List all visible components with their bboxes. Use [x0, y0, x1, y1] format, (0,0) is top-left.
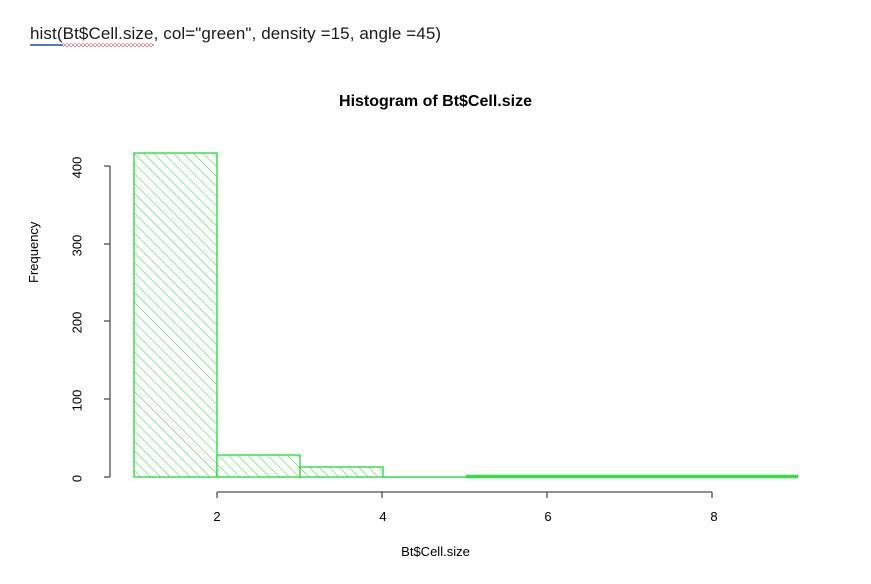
histogram-bar	[217, 455, 300, 477]
histogram-plot: Histogram of Bt$Cell.size Frequency Bt$C…	[0, 0, 871, 584]
histogram-bar	[134, 153, 217, 477]
plot-canvas	[0, 0, 871, 584]
histogram-bars	[134, 153, 798, 477]
histogram-bar	[300, 467, 383, 477]
y-axis	[104, 166, 110, 477]
x-axis	[217, 492, 712, 498]
